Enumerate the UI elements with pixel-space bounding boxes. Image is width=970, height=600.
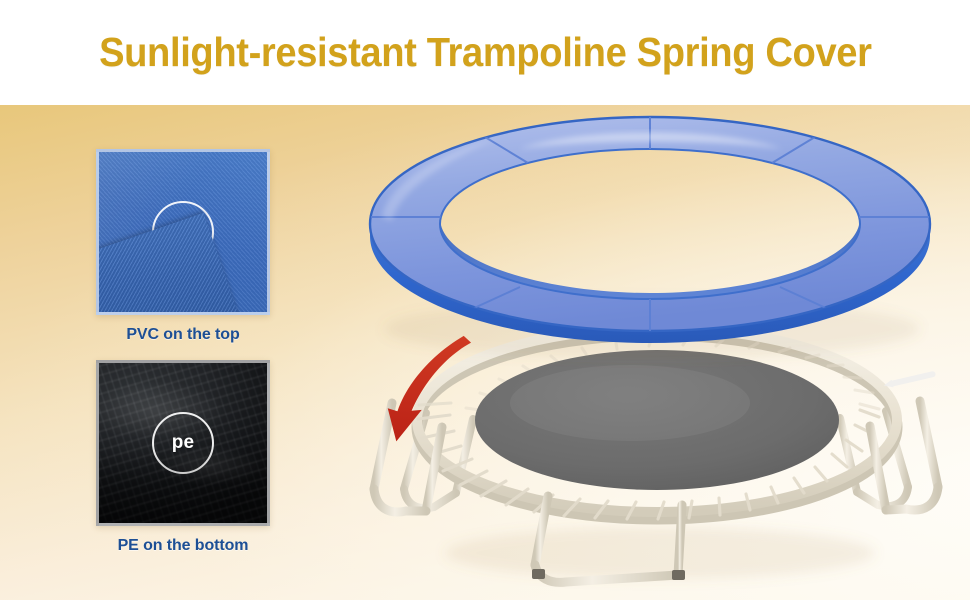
product-illustration	[330, 105, 970, 597]
page-title: Sunlight-resistant Trampoline Spring Cov…	[99, 29, 872, 76]
content-background: pve PVC on the top pe PE on the bottom	[0, 105, 970, 600]
infographic-canvas: Sunlight-resistant Trampoline Spring Cov…	[0, 0, 970, 600]
jumping-mat-highlight	[510, 365, 750, 441]
pvc-blue-fabric-swatch: pve	[96, 149, 270, 315]
leg-foot-right	[672, 570, 685, 580]
feature-card-pe: pe PE on the bottom	[96, 360, 270, 555]
fabric-weave-overlay	[96, 213, 242, 315]
blue-trampoline-spring-pad	[370, 115, 930, 359]
frame-ground-shadow	[445, 527, 875, 579]
feature-card-list: pve PVC on the top pe PE on the bottom	[96, 149, 286, 555]
feature-caption-pe: PE on the bottom	[96, 537, 270, 555]
mat-brand-logo	[883, 370, 936, 390]
feature-card-pvc: pve PVC on the top	[96, 149, 270, 344]
material-badge-pe: pe	[152, 412, 214, 474]
feature-caption-pvc: PVC on the top	[96, 326, 270, 344]
header-band: Sunlight-resistant Trampoline Spring Cov…	[0, 0, 970, 105]
pe-black-sheet-swatch: pe	[96, 360, 270, 526]
leg-foot-left	[532, 569, 545, 579]
